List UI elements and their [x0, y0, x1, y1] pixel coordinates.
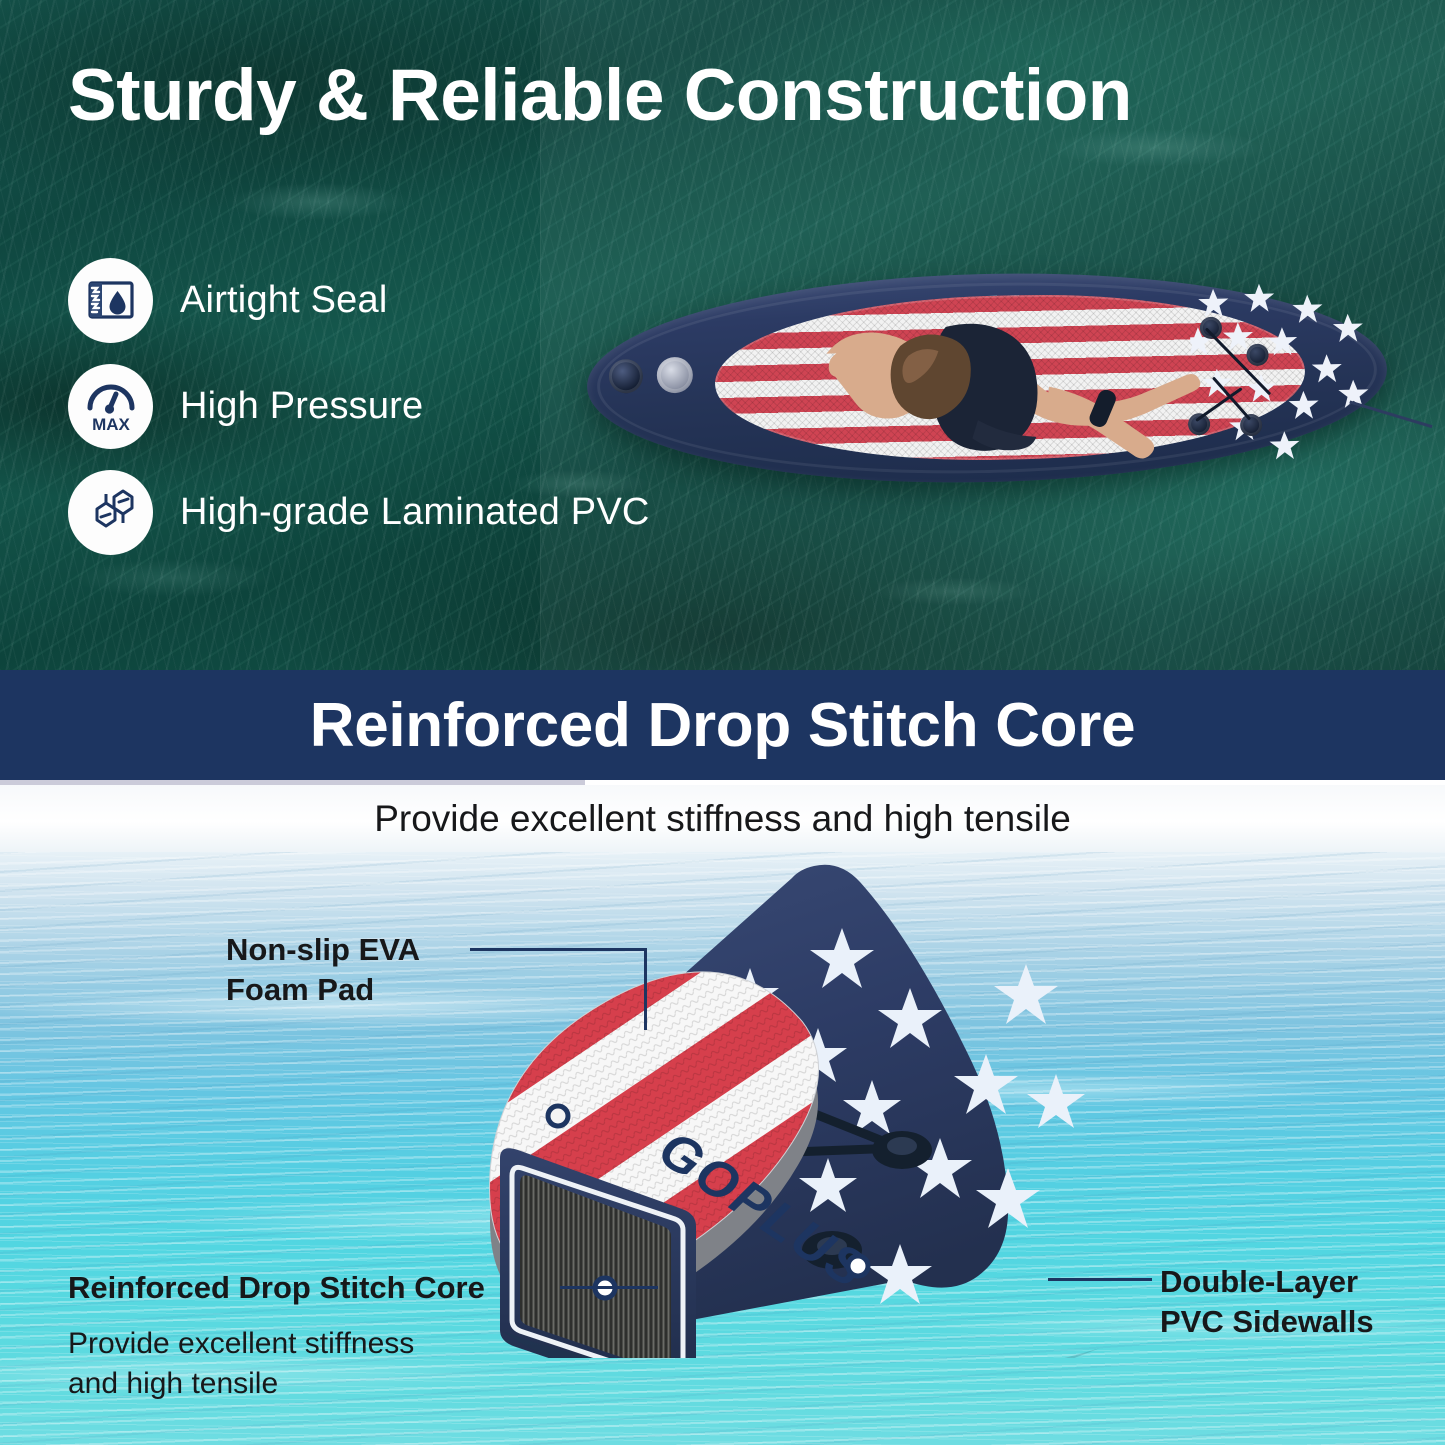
leader-line-core	[560, 1286, 658, 1289]
callout-line-2: PVC Sidewalls	[1160, 1304, 1374, 1339]
feature-icon-badge: MAX	[68, 364, 153, 449]
paddle-board-overhead-photo	[585, 265, 1390, 491]
callout-core-title: Reinforced Drop Stitch Core	[68, 1268, 485, 1308]
feature-item-airtight-seal: Airtight Seal	[68, 248, 650, 352]
page-title: Sturdy & Reliable Construction	[68, 58, 1132, 135]
pvc-molecule-hexagon-icon	[84, 485, 138, 539]
feature-label: Airtight Seal	[180, 279, 387, 322]
feature-item-laminated-pvc: High-grade Laminated PVC	[68, 460, 650, 564]
banner-title: Reinforced Drop Stitch Core	[310, 690, 1136, 761]
callout-anchor-sidewall	[848, 1256, 868, 1276]
callout-sidewall-title: Double-Layer PVC Sidewalls	[1160, 1262, 1374, 1341]
product-infographic: Airtight Seal MAX High Pressure	[0, 0, 1445, 1445]
section-subtitle: Provide excellent stiffness and high ten…	[374, 798, 1071, 840]
callout-body-line-2: and high tensile	[68, 1367, 278, 1400]
callout-line-1: Non-slip EVA	[226, 932, 420, 967]
feature-label: High-grade Laminated PVC	[180, 491, 650, 534]
feature-label: High Pressure	[180, 385, 423, 428]
leader-line-sidewall	[1048, 1278, 1152, 1281]
paddler-figure	[795, 275, 1219, 480]
feature-list: Airtight Seal MAX High Pressure	[68, 248, 650, 564]
callout-line-1: Double-Layer	[1160, 1264, 1358, 1299]
pressure-gauge-max-icon: MAX	[83, 378, 139, 434]
feature-icon-badge	[68, 258, 153, 343]
subtitle-strip: Provide excellent stiffness and high ten…	[0, 785, 1445, 852]
leader-line-eva-horizontal	[470, 948, 647, 951]
leader-line-eva-vertical	[644, 948, 647, 1030]
section-banner: Reinforced Drop Stitch Core	[0, 670, 1445, 780]
callout-line-2: Foam Pad	[226, 972, 374, 1007]
gauge-max-text: MAX	[92, 415, 130, 434]
airtight-seal-icon	[85, 274, 137, 326]
feature-icon-badge	[68, 470, 153, 555]
callout-anchor-eva-pad	[548, 1106, 568, 1126]
callout-body-line-1: Provide excellent stiffness	[68, 1327, 414, 1360]
callout-eva-pad-title: Non-slip EVA Foam Pad	[226, 930, 420, 1009]
callout-core-body: Provide excellent stiffness and high ten…	[68, 1324, 414, 1404]
feature-item-high-pressure: MAX High Pressure	[68, 354, 650, 458]
